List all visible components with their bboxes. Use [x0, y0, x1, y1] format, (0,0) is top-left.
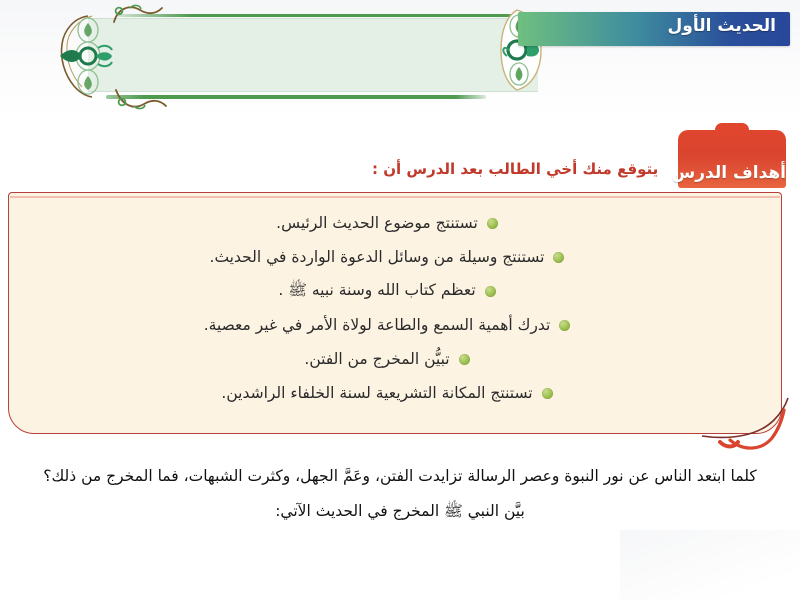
- body-paragraph-2: بيَّن النبي ﷺ المخرج في الحديث الآتي:: [10, 497, 790, 526]
- bullet-icon: [459, 354, 470, 365]
- objectives-badge-label: أهداف الدرس: [678, 163, 786, 183]
- ornamental-banner: [88, 18, 538, 92]
- objectives-badge: أهداف الدرس: [678, 130, 786, 188]
- vine-scroll-bottom-icon: [112, 86, 172, 114]
- list-item: تستنتج موضوع الحديث الرئيس.: [0, 206, 774, 240]
- objective-text: تبيُّن المخرج من الفتن.: [304, 350, 449, 368]
- bullet-icon: [553, 252, 564, 263]
- bullet-icon: [559, 320, 570, 331]
- objectives-list: تستنتج موضوع الحديث الرئيس. تستنتج وسيلة…: [0, 206, 774, 410]
- objective-text: تستنتج المكانة التشريعية لسنة الخلفاء ال…: [221, 384, 532, 402]
- lesson-title-band: الحديث الأول: [518, 12, 790, 46]
- list-item: تبيُّن المخرج من الفتن.: [0, 342, 774, 376]
- list-item: تدرك أهمية السمع والطاعة لولاة الأمر في …: [0, 308, 774, 342]
- list-item: تستنتج وسيلة من وسائل الدعوة الواردة في …: [0, 240, 774, 274]
- objective-text: تعظم كتاب الله وسنة نبيه ﷺ .: [278, 280, 475, 303]
- bullet-icon: [485, 286, 496, 297]
- objectives-intro-text: يتوقع منك أخي الطالب بعد الدرس أن :: [372, 160, 672, 178]
- paper-texture-bottom: [620, 530, 800, 600]
- objective-text: تدرك أهمية السمع والطاعة لولاة الأمر في …: [204, 316, 551, 334]
- lesson-title: الحديث الأول: [668, 16, 777, 36]
- list-item: تعظم كتاب الله وسنة نبيه ﷺ .: [0, 274, 774, 308]
- body-paragraph-1: كلما ابتعد الناس عن نور النبوة وعصر الرس…: [10, 462, 790, 491]
- list-item: تستنتج المكانة التشريعية لسنة الخلفاء ال…: [0, 376, 774, 410]
- bullet-icon: [487, 218, 498, 229]
- bullet-icon: [542, 388, 553, 399]
- objectives-box-inner-rule: [10, 196, 780, 198]
- page-root: الحديث الأول أهداف الدرس يتوقع منك أخي ا…: [0, 0, 800, 600]
- objective-text: تستنتج وسيلة من وسائل الدعوة الواردة في …: [210, 248, 545, 266]
- vine-scroll-top-icon: [110, 2, 170, 26]
- lesson-body: كلما ابتعد الناس عن نور النبوة وعصر الرس…: [10, 462, 790, 527]
- banner-rule-top: [118, 14, 523, 17]
- objective-text: تستنتج موضوع الحديث الرئيس.: [276, 214, 478, 232]
